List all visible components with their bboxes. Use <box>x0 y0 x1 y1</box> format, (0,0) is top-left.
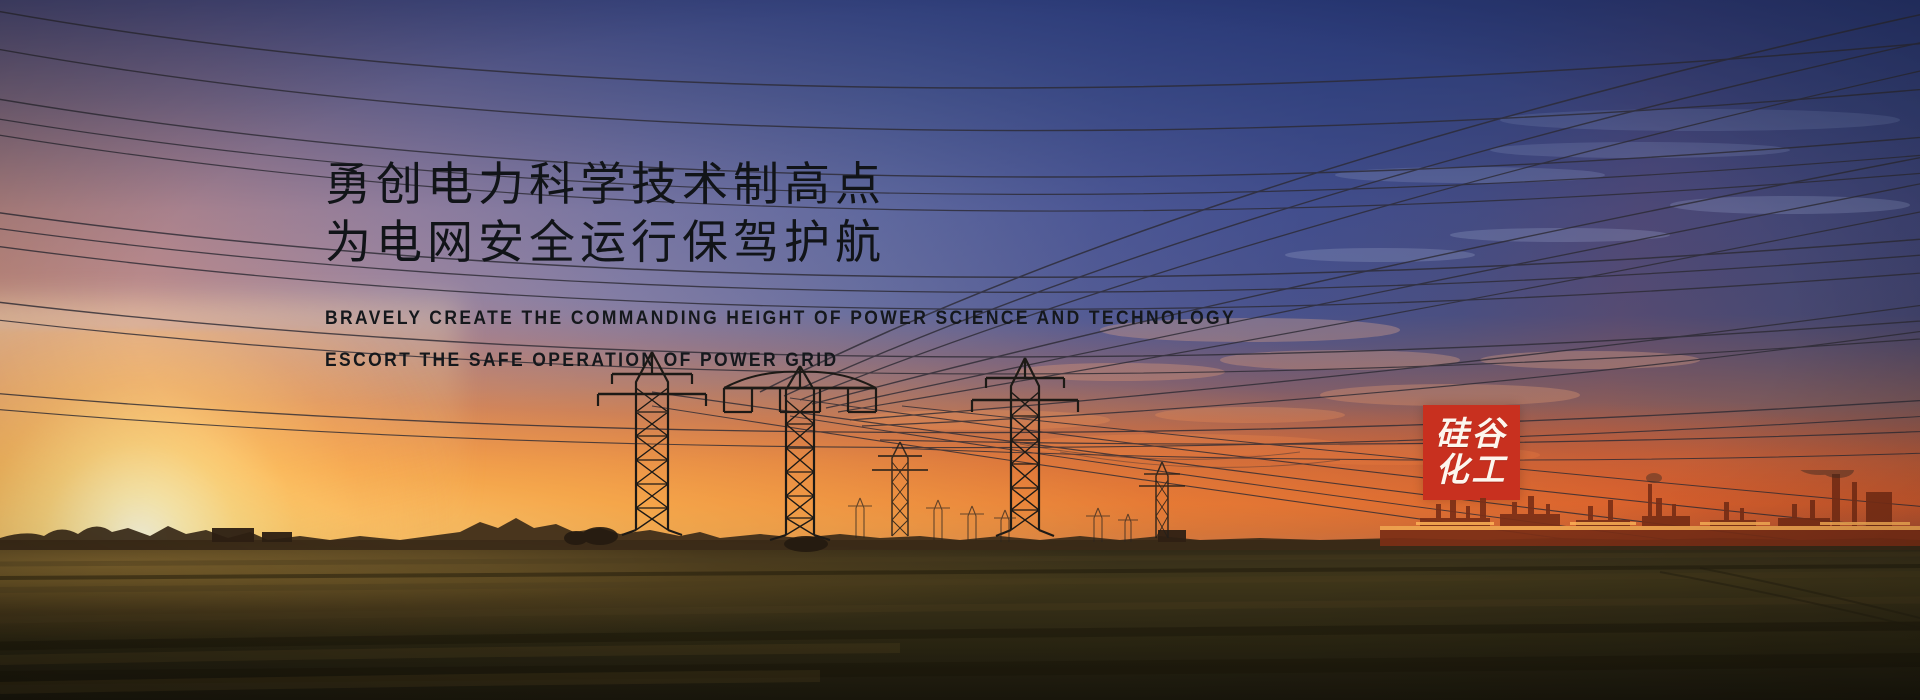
foreground-shrubs <box>564 527 828 552</box>
headline-cn-line-2: 为电网安全运行保驾护航 <box>325 213 1425 271</box>
tower-right <box>972 358 1078 536</box>
tower-mid-2 <box>1139 462 1185 538</box>
transmission-towers <box>0 330 1920 580</box>
tower-mid-1 <box>872 442 928 536</box>
headline-cn-line-1: 勇创电力科学技术制高点 <box>325 155 1425 213</box>
hero-banner: 勇创电力科学技术制高点 为电网安全运行保驾护航 BRAVELY CREATE T… <box>0 0 1920 700</box>
tower-center <box>724 366 876 540</box>
tower-left <box>598 352 706 535</box>
